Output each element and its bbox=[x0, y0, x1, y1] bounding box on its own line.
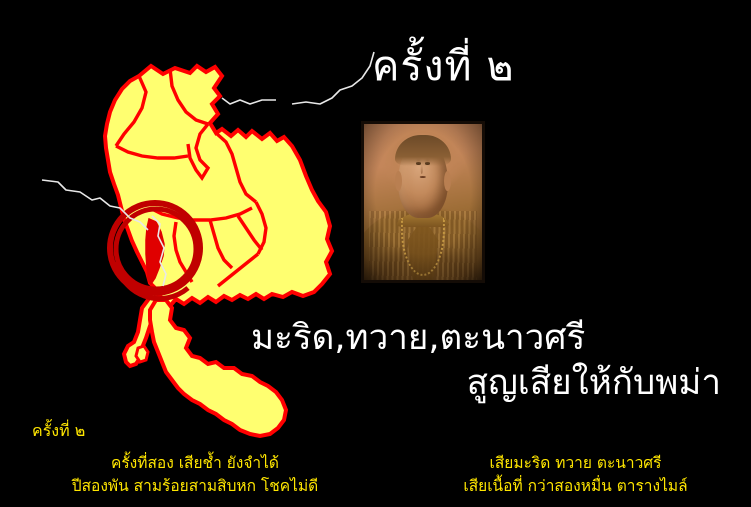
map-landmass-main bbox=[105, 66, 332, 306]
verse-left-line-1: ครั้งที่สอง เสียช้ำ ยังจำได้ bbox=[10, 452, 380, 475]
king-portrait bbox=[361, 121, 485, 283]
infographic-canvas: ครั้งที่ ๒ มะริด,ทวาย,ตะนาวศรี สูญเสียให… bbox=[0, 0, 751, 507]
verse-left-column: ครั้งที่สอง เสียช้ำ ยังจำได้ ปีสองพัน สา… bbox=[10, 452, 380, 499]
verse-right-line-2: เสียเนื้อที่ กว่าสองหมื่น ตารางไมล์ bbox=[400, 475, 751, 498]
verse-left-line-2: ปีสองพัน สามร้อยสามสิบหก โชคไม่ดี bbox=[10, 475, 380, 498]
map-occurrence-label: ครั้งที่ ๒ bbox=[32, 419, 85, 444]
verse-right-column: เสียมะริด ทวาย ตะนาวศรี เสียเนื้อที่ กว่… bbox=[400, 452, 751, 499]
portrait-vignette bbox=[364, 124, 482, 280]
map-island-west bbox=[136, 346, 148, 362]
headline-line-1: มะริด,ทวาย,ตะนาวศรี bbox=[251, 316, 721, 361]
headline-block: มะริด,ทวาย,ตะนาวศรี สูญเสียให้กับพม่า bbox=[251, 316, 721, 406]
headline-line-2: สูญเสียให้กับพม่า bbox=[251, 361, 721, 406]
verse-right-line-1: เสียมะริด ทวาย ตะนาวศรี bbox=[400, 452, 751, 475]
page-title: ครั้งที่ ๒ bbox=[372, 46, 515, 87]
